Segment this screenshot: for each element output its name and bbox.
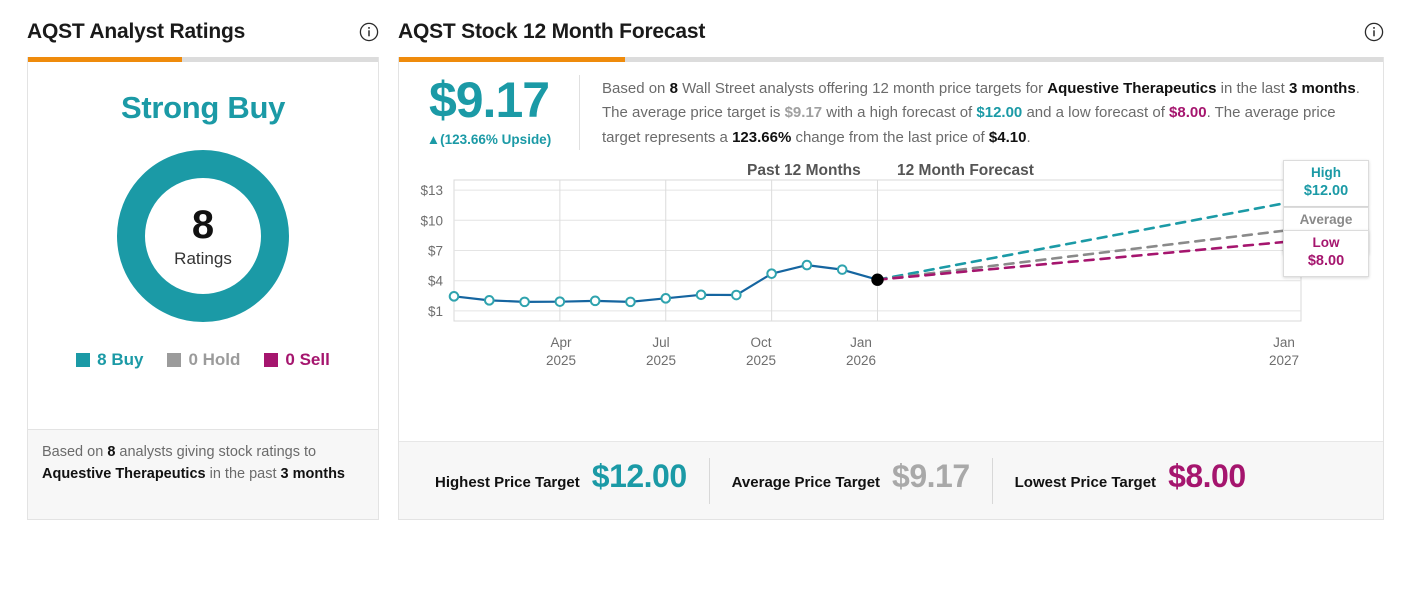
forecast-card: $9.17 ▲(123.66% Upside) Based on 8 Wall … (398, 57, 1384, 520)
blurb-low-price: $8.00 (1169, 104, 1207, 121)
flag-average-name: Average (1300, 212, 1353, 227)
ratings-legend: 8 Buy 0 Hold 0 Sell (76, 350, 330, 370)
blurb-s9: . (1026, 129, 1030, 146)
forecast-header: AQST Stock 12 Month Forecast (398, 20, 1384, 44)
target-average-value: $9.17 (892, 458, 970, 495)
legend-item-sell[interactable]: 0 Sell (264, 350, 329, 370)
target-lowest-label: Lowest Price Target (1015, 474, 1156, 491)
x-tick-month: Apr (521, 334, 601, 352)
page-title-forecast: AQST Stock 12 Month Forecast (398, 20, 705, 44)
svg-text:$10: $10 (420, 213, 443, 228)
blurb-s5: with a high forecast of (822, 104, 976, 121)
blurb-average-price: $9.17 (785, 104, 823, 121)
info-circle-icon[interactable] (359, 22, 379, 42)
legend-label-hold: 0 Hold (188, 350, 240, 370)
svg-text:$1: $1 (428, 304, 443, 319)
target-highest: Highest Price Target $12.00 (413, 458, 709, 504)
flag-high-name: High (1311, 165, 1341, 180)
progress-accent-bar (399, 57, 1383, 62)
target-highest-label: Highest Price Target (435, 474, 580, 491)
target-lowest: Lowest Price Target $8.00 (992, 458, 1268, 504)
legend-item-buy[interactable]: 8 Buy (76, 350, 143, 370)
page-title-analyst-ratings: AQST Analyst Ratings (27, 20, 245, 44)
blurb-s6: and a low forecast of (1022, 104, 1169, 121)
legend-swatch-buy-icon (76, 353, 90, 367)
blurb-analyst-count: 8 (670, 80, 678, 97)
progress-accent-bar (28, 57, 378, 62)
flag-low-value: $8.00 (1284, 252, 1368, 270)
analyst-ratings-footnote: Based on 8 analysts giving stock ratings… (27, 430, 379, 520)
donut-center-label: 8 Ratings (115, 148, 291, 324)
svg-text:$4: $4 (428, 274, 444, 289)
rating-verdict: Strong Buy (121, 90, 285, 126)
blurb-s2: Wall Street analysts offering 12 month p… (678, 80, 1047, 97)
blurb-s8: change from the last price of (791, 129, 989, 146)
footnote-text-3: in the past (206, 466, 281, 482)
x-tick-month: Jan (821, 334, 901, 352)
stock-forecast-page: AQST Analyst Ratings Strong Buy 8 Rating… (0, 0, 1407, 596)
x-tick-year: 2025 (621, 352, 701, 370)
analyst-ratings-header: AQST Analyst Ratings (27, 20, 379, 44)
blurb-s1: Based on (602, 80, 670, 97)
flag-low-name: Low (1313, 235, 1340, 250)
forecast-flag-high[interactable]: High $12.00 (1283, 160, 1369, 207)
blurb-period: 3 months (1289, 80, 1356, 97)
svg-text:$7: $7 (428, 243, 443, 258)
x-axis-tick: Apr 2025 (521, 334, 601, 370)
chart-canvas: $1$4$7$10$13 (399, 166, 1385, 351)
blurb-s3: in the last (1216, 80, 1289, 97)
average-target-highlight: $9.17 ▲(123.66% Upside) (399, 75, 579, 147)
forecast-summary-row: $9.17 ▲(123.66% Upside) Based on 8 Wall … (399, 57, 1383, 150)
flag-high-value: $12.00 (1284, 182, 1368, 200)
target-average-label: Average Price Target (732, 474, 880, 491)
ratings-count: 8 (192, 205, 214, 245)
legend-label-sell: 0 Sell (285, 350, 329, 370)
x-tick-month: Oct (721, 334, 801, 352)
chart-label-past: Past 12 Months (747, 162, 861, 180)
x-tick-month: Jul (621, 334, 701, 352)
svg-text:$13: $13 (420, 183, 443, 198)
forecast-flag-low[interactable]: Low $8.00 (1283, 230, 1369, 277)
info-circle-icon[interactable] (1364, 22, 1384, 42)
forecast-description: Based on 8 Wall Street analysts offering… (579, 75, 1383, 150)
blurb-last-price: $4.10 (989, 129, 1027, 146)
x-axis-tick: Jan 2026 (821, 334, 901, 370)
x-axis-tick: Jan 2027 (1244, 334, 1324, 370)
x-tick-year: 2026 (821, 352, 901, 370)
blurb-company-name: Aquestive Therapeutics (1047, 80, 1216, 97)
ratings-count-caption: Ratings (174, 250, 232, 267)
ratings-donut-chart: 8 Ratings (115, 148, 291, 324)
target-average: Average Price Target $9.17 (709, 458, 992, 504)
footnote-period: 3 months (281, 466, 345, 482)
target-lowest-value: $8.00 (1168, 458, 1246, 495)
legend-label-buy: 8 Buy (97, 350, 143, 370)
footnote-text-2: analysts giving stock ratings to (115, 444, 316, 460)
blurb-high-price: $12.00 (976, 104, 1022, 121)
x-axis-tick: Oct 2025 (721, 334, 801, 370)
x-tick-year: 2025 (521, 352, 601, 370)
x-tick-year: 2027 (1244, 352, 1324, 370)
target-highest-value: $12.00 (592, 458, 687, 495)
footnote-company-name: Aquestive Therapeutics (42, 466, 206, 482)
analyst-ratings-card: Strong Buy 8 Ratings 8 Buy 0 Hold 0 Sell (27, 57, 379, 430)
chart-label-forecast: 12 Month Forecast (897, 162, 1034, 180)
price-forecast-chart: Past 12 Months 12 Month Forecast $1$4$7$… (399, 166, 1383, 401)
legend-swatch-sell-icon (264, 353, 278, 367)
x-axis-tick: Jul 2025 (621, 334, 701, 370)
blurb-change-pct: 123.66% (732, 129, 791, 146)
legend-item-hold[interactable]: 0 Hold (167, 350, 240, 370)
x-tick-year: 2025 (721, 352, 801, 370)
price-target-summary-bar: Highest Price Target $12.00 Average Pric… (399, 441, 1383, 519)
headline-price: $9.17 (399, 77, 579, 125)
legend-swatch-hold-icon (167, 353, 181, 367)
footnote-text-1: Based on (42, 444, 107, 460)
upside-badge: ▲(123.66% Upside) (399, 132, 579, 147)
x-tick-month: Jan (1244, 334, 1324, 352)
